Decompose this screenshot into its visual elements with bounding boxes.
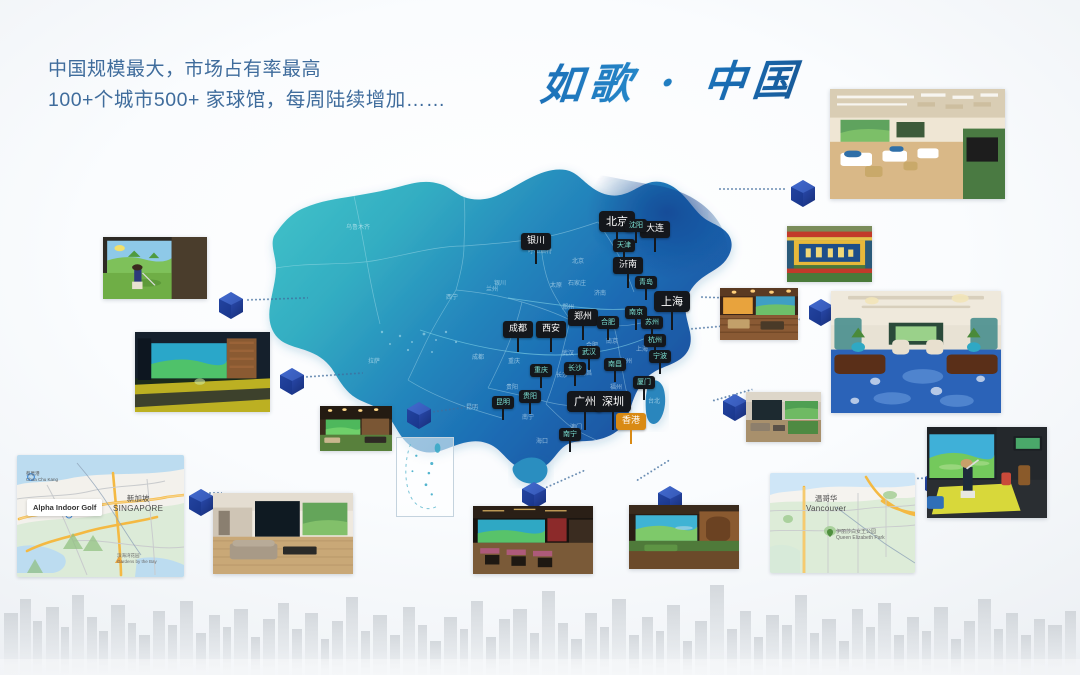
singapore-poi-label: 蔡厝港Choa Chu Kang	[26, 471, 58, 482]
map-pin-stem	[654, 238, 656, 252]
hex-node-icon[interactable]	[186, 487, 216, 517]
south-china-sea-inset	[396, 437, 454, 517]
map-pin-label: 成都	[503, 321, 533, 338]
map-pin-stem	[643, 389, 645, 400]
hex-node-icon[interactable]	[788, 178, 818, 208]
map-pin-label: 重庆	[530, 364, 552, 377]
map-pin-label: 厦门	[633, 376, 655, 389]
vancouver-poi-en: Queen Elizabeth Park	[836, 535, 885, 541]
vancouver-city-en: Vancouver	[806, 504, 846, 513]
map-pin-label: 苏州	[641, 316, 663, 329]
vancouver-city-label: 温哥华 Vancouver	[806, 495, 846, 513]
map-pin-stem	[588, 359, 590, 370]
map-pin-label: 杭州	[644, 334, 666, 347]
vancouver-city-cn: 温哥华	[806, 495, 846, 504]
photo-content	[746, 392, 821, 442]
brand-logo-text: 如歌 · 中国	[537, 46, 805, 112]
map-pin-stem	[550, 338, 552, 352]
map-pin-stem	[540, 377, 542, 388]
photo-wood-room-simulator	[629, 505, 739, 569]
hex-node-icon[interactable]	[216, 290, 246, 320]
brand-logo: 如歌 · 中国	[536, 48, 806, 110]
map-pin-stem	[635, 232, 637, 243]
map-pin-stem	[659, 363, 661, 374]
photo-content	[629, 505, 739, 569]
map-pin-stem	[671, 312, 673, 330]
photo-content	[103, 237, 207, 299]
photo-content	[831, 291, 1001, 413]
map-pin-label: 西安	[536, 321, 566, 338]
map-pin-stem	[517, 338, 519, 352]
map-pin-stem	[584, 412, 586, 430]
map-pin-label: 南昌	[604, 358, 626, 371]
photo-golfer-swing-simulator	[927, 427, 1047, 518]
headline-line-2: 100+个城市500+ 家球馆，每周陆续增加……	[48, 85, 446, 116]
map-pin-label: 银川	[521, 233, 551, 250]
photo-green-room-simulator	[320, 406, 392, 451]
singapore-poi-label-2: 滨海湾花园Gardens by the Bay	[117, 553, 157, 564]
map-pin-青岛[interactable]: 青岛	[635, 276, 657, 300]
photo-content	[135, 332, 270, 412]
map-pin-stem	[645, 289, 647, 300]
map-pin-stem	[612, 412, 614, 430]
map-pin-label: 天津	[613, 239, 635, 252]
photo-orange-room-simulator	[720, 288, 798, 340]
map-pin-stem	[574, 375, 576, 386]
vancouver-map-inset[interactable]: 温哥华 Vancouver 伊丽莎白女王公园 Queen Elizabeth P…	[770, 473, 915, 573]
map-pin-成都[interactable]: 成都	[503, 321, 533, 352]
photo-chinese-gate-plaque	[787, 226, 872, 282]
singapore-city-cn: 新加坡	[113, 495, 163, 504]
map-pin-stem	[630, 430, 632, 444]
map-pin-stem	[614, 371, 616, 382]
map-pin-合肥[interactable]: 合肥	[597, 316, 619, 340]
singapore-city-en: SINGAPORE	[113, 504, 163, 513]
headline-block: 中国规模最大，市场占有率最高 100+个城市500+ 家球馆，每周陆续增加……	[48, 55, 446, 116]
singapore-city-label: 新加坡 SINGAPORE	[113, 495, 163, 513]
photo-content	[213, 493, 353, 574]
photo-modern-lounge-simulator	[213, 493, 353, 574]
map-pin-stem	[623, 252, 625, 263]
photo-bar-simulator-hall	[473, 506, 593, 574]
photo-content	[320, 406, 392, 451]
singapore-venue-callout: Alpha Indoor Golf	[27, 499, 102, 516]
map-pin-银川[interactable]: 银川	[521, 233, 551, 264]
map-pin-stem	[607, 329, 609, 340]
map-pin-宁波[interactable]: 宁波	[649, 350, 671, 374]
map-pin-label: 宁波	[649, 350, 671, 363]
map-pin-天津[interactable]: 天津	[613, 239, 635, 263]
hex-node-icon[interactable]	[404, 400, 434, 430]
map-pin-南昌[interactable]: 南昌	[604, 358, 626, 382]
hex-node-icon[interactable]	[277, 366, 307, 396]
photo-content	[787, 226, 872, 282]
map-pin-label: 武汉	[578, 346, 600, 359]
photo-content	[473, 506, 593, 574]
map-pin-label: 贵阳	[519, 390, 541, 403]
map-pin-label: 青岛	[635, 276, 657, 289]
map-pin-label: 昆明	[492, 396, 514, 409]
photo-kid-golf-simulator	[103, 237, 207, 299]
map-pin-label: 上海	[654, 291, 690, 312]
map-pin-label: 长沙	[564, 362, 586, 375]
connector-line	[718, 188, 786, 190]
photo-large-simulator-lounge	[830, 89, 1005, 199]
singapore-map-inset[interactable]: Alpha Indoor Golf 新加坡 SINGAPORE 蔡厝港Choa …	[17, 455, 184, 577]
photo-ornate-ballroom	[831, 291, 1001, 413]
map-pin-厦门[interactable]: 厦门	[633, 376, 655, 400]
map-pin-label: 南宁	[559, 428, 581, 441]
headline-line-1: 中国规模最大，市场占有率最高	[48, 55, 446, 85]
map-pin-label: 深圳	[595, 391, 631, 412]
map-pin-贵阳[interactable]: 贵阳	[519, 390, 541, 414]
map-pin-stem	[529, 403, 531, 414]
poster-root: 中国规模最大，市场占有率最高 100+个城市500+ 家球馆，每周陆续增加…… …	[0, 0, 1080, 675]
photo-neon-simulator-lounge	[135, 332, 270, 412]
map-pin-stem	[569, 441, 571, 452]
map-pin-label: 合肥	[597, 316, 619, 329]
map-pin-stem	[582, 326, 584, 340]
map-pin-stem	[635, 319, 637, 330]
vancouver-poi-label: 伊丽莎白女王公园 Queen Elizabeth Park	[836, 529, 885, 541]
photo-lounge-bay-simulator	[746, 392, 821, 442]
map-pin-stem	[535, 250, 537, 264]
map-pin-西安[interactable]: 西安	[536, 321, 566, 352]
map-pin-label: 郑州	[568, 309, 598, 326]
map-pin-昆明[interactable]: 昆明	[492, 396, 514, 420]
map-pin-重庆[interactable]: 重庆	[530, 364, 552, 388]
photo-content	[830, 89, 1005, 199]
map-pin-长沙[interactable]: 长沙	[564, 362, 586, 386]
map-pin-stem	[627, 274, 629, 288]
map-pin-郑州[interactable]: 郑州	[568, 309, 598, 340]
map-pin-香港[interactable]: 香港	[616, 413, 646, 444]
photo-content	[927, 427, 1047, 518]
map-pin-label: 沈阳	[625, 219, 647, 232]
map-pin-stem	[502, 409, 504, 420]
map-pin-南宁[interactable]: 南宁	[559, 428, 581, 452]
photo-content	[720, 288, 798, 340]
map-pin-label: 香港	[616, 413, 646, 430]
